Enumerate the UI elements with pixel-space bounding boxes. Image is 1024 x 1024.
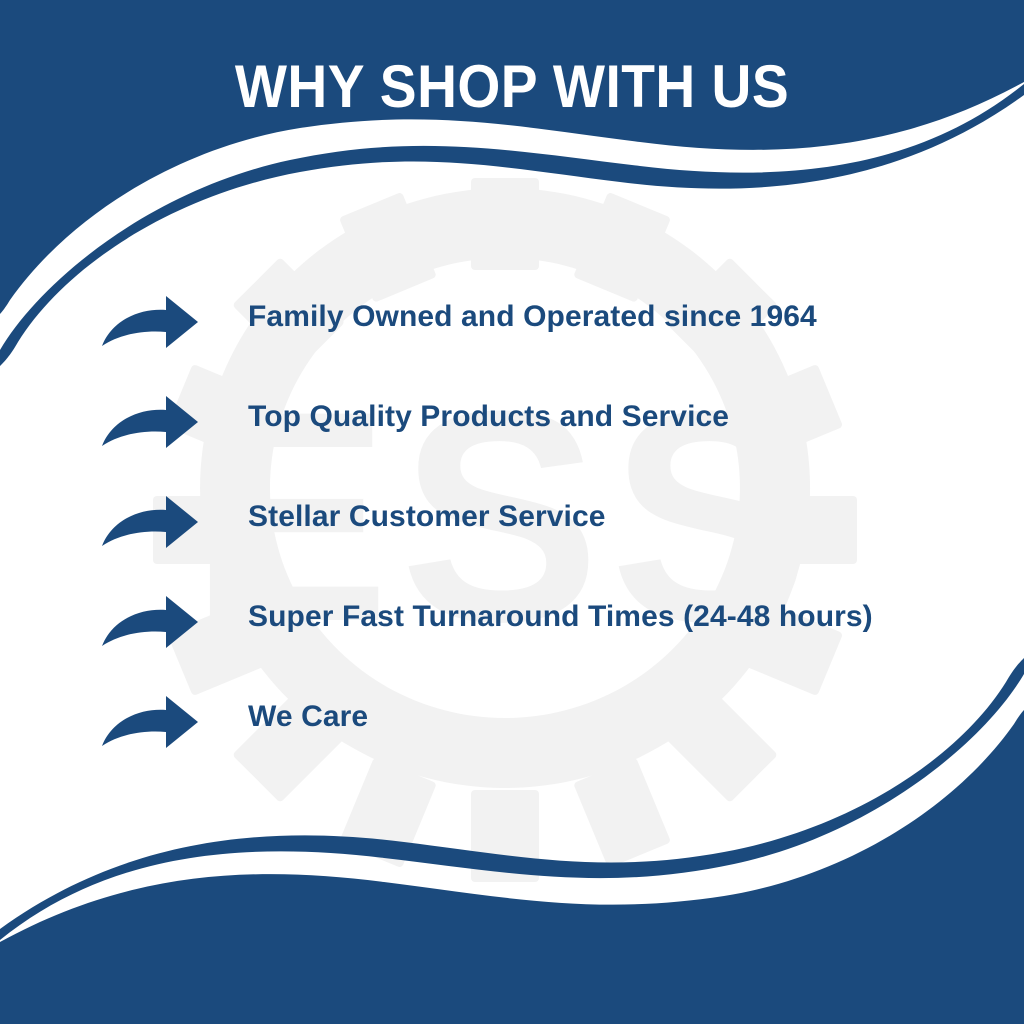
curved-arrow-right-icon — [100, 594, 200, 652]
list-item-label: Top Quality Products and Service — [248, 392, 980, 436]
promo-banner: ESS WHY SHOP WITH US Family Owned and Op… — [0, 0, 1024, 1024]
list-item: Top Quality Products and Service — [100, 392, 980, 492]
curved-arrow-right-icon — [100, 394, 200, 452]
list-item: Family Owned and Operated since 1964 — [100, 292, 980, 392]
list-item: We Care — [100, 692, 980, 792]
curved-arrow-right-icon — [100, 494, 200, 552]
list-item-label: Family Owned and Operated since 1964 — [248, 292, 980, 336]
page-title: WHY SHOP WITH US — [41, 54, 983, 120]
list-item: Stellar Customer Service — [100, 492, 980, 592]
curved-arrow-right-icon — [100, 294, 200, 352]
list-item-label: Stellar Customer Service — [248, 492, 980, 536]
curved-arrow-right-icon — [100, 694, 200, 752]
list-item-label: We Care — [248, 692, 980, 736]
list-item-label: Super Fast Turnaround Times (24-48 hours… — [248, 592, 980, 636]
benefits-list: Family Owned and Operated since 1964 Top… — [100, 292, 980, 792]
list-item: Super Fast Turnaround Times (24-48 hours… — [100, 592, 980, 692]
